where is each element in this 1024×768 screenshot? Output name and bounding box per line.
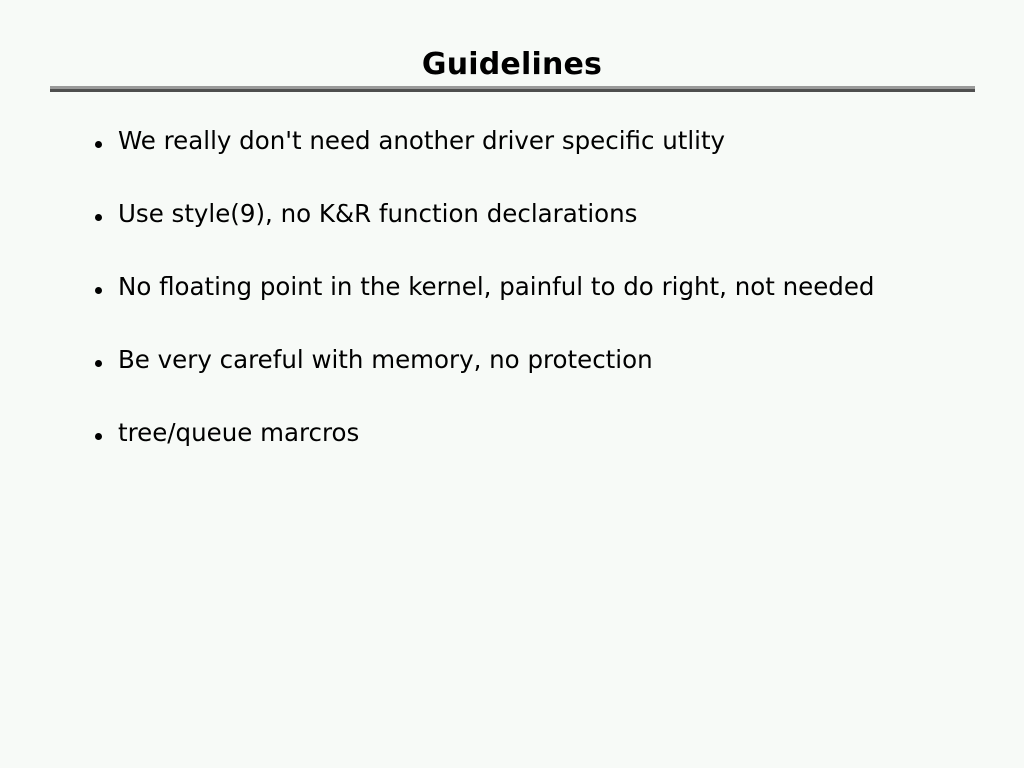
list-item: Use style(9), no K&R function declaratio… xyxy=(95,197,985,270)
list-item-label: No floating point in the kernel, painful… xyxy=(118,270,985,304)
list-item: tree/queue marcros xyxy=(95,416,985,489)
list-item: We really don't need another driver spec… xyxy=(95,124,985,197)
title-divider xyxy=(50,86,975,92)
bullet-list: We really don't need another driver spec… xyxy=(95,124,985,489)
bullet-dot-icon xyxy=(95,214,102,221)
presentation-slide: Guidelines We really don't need another … xyxy=(0,0,1024,768)
bullet-dot-icon xyxy=(95,141,102,148)
bullet-dot-icon xyxy=(95,360,102,367)
list-item: Be very careful with memory, no protecti… xyxy=(95,343,985,416)
list-item-label: We really don't need another driver spec… xyxy=(118,124,985,158)
list-item-label: tree/queue marcros xyxy=(118,416,985,450)
list-item: No floating point in the kernel, painful… xyxy=(95,270,985,343)
bullet-dot-icon xyxy=(95,287,102,294)
list-item-label: Use style(9), no K&R function declaratio… xyxy=(118,197,985,231)
page-title: Guidelines xyxy=(0,46,1024,84)
list-item-label: Be very careful with memory, no protecti… xyxy=(118,343,985,377)
bullet-dot-icon xyxy=(95,433,102,440)
divider-shadow-band xyxy=(50,89,975,92)
